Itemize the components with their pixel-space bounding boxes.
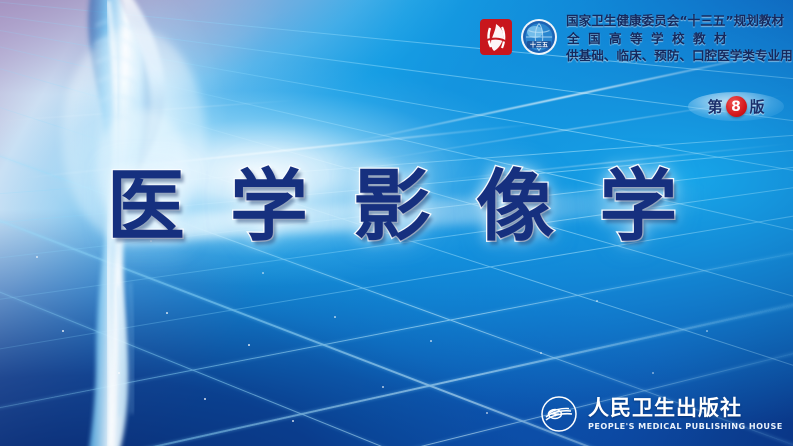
publisher-block: 人民卫生出版社 PEOPLE'S MEDICAL PUBLISHING HOUS… — [540, 394, 793, 434]
logo-group: 十三五 — [478, 12, 558, 57]
publisher-name-chinese: 人民卫生出版社 — [588, 397, 783, 418]
edition-badge: 第 8 版 — [688, 92, 784, 121]
publisher-names: 人民卫生出版社 PEOPLE'S MEDICAL PUBLISHING HOUS… — [588, 397, 783, 430]
pmph-red-seal-logo-icon — [478, 17, 514, 57]
header-block: 十三五 国家卫生健康委员会“十三五”规划教材 全国高等学校教材 供基础、临床、预… — [478, 12, 793, 65]
edition-suffix: 版 — [750, 96, 765, 117]
header-line-2: 全国高等学校教材 — [566, 30, 793, 48]
svg-text:十三五: 十三五 — [530, 41, 548, 49]
edition-number: 8 — [726, 96, 747, 117]
header-text-lines: 国家卫生健康委员会“十三五”规划教材 全国高等学校教材 供基础、临床、预防、口腔… — [566, 12, 793, 65]
header-line-1: 国家卫生健康委员会“十三五”规划教材 — [566, 12, 793, 30]
page-title: 医 学 影 像 学 — [0, 162, 793, 252]
header-line-3: 供基础、临床、预防、口腔医学类专业用 — [566, 47, 793, 65]
pmph-circular-emblem-icon — [540, 395, 578, 433]
shisanwu-globe-logo-icon: 十三五 — [520, 18, 558, 56]
book-cover: 十三五 国家卫生健康委员会“十三五”规划教材 全国高等学校教材 供基础、临床、预… — [0, 0, 793, 446]
edition-prefix: 第 — [707, 96, 722, 117]
publisher-name-english: PEOPLE'S MEDICAL PUBLISHING HOUSE — [588, 422, 783, 430]
